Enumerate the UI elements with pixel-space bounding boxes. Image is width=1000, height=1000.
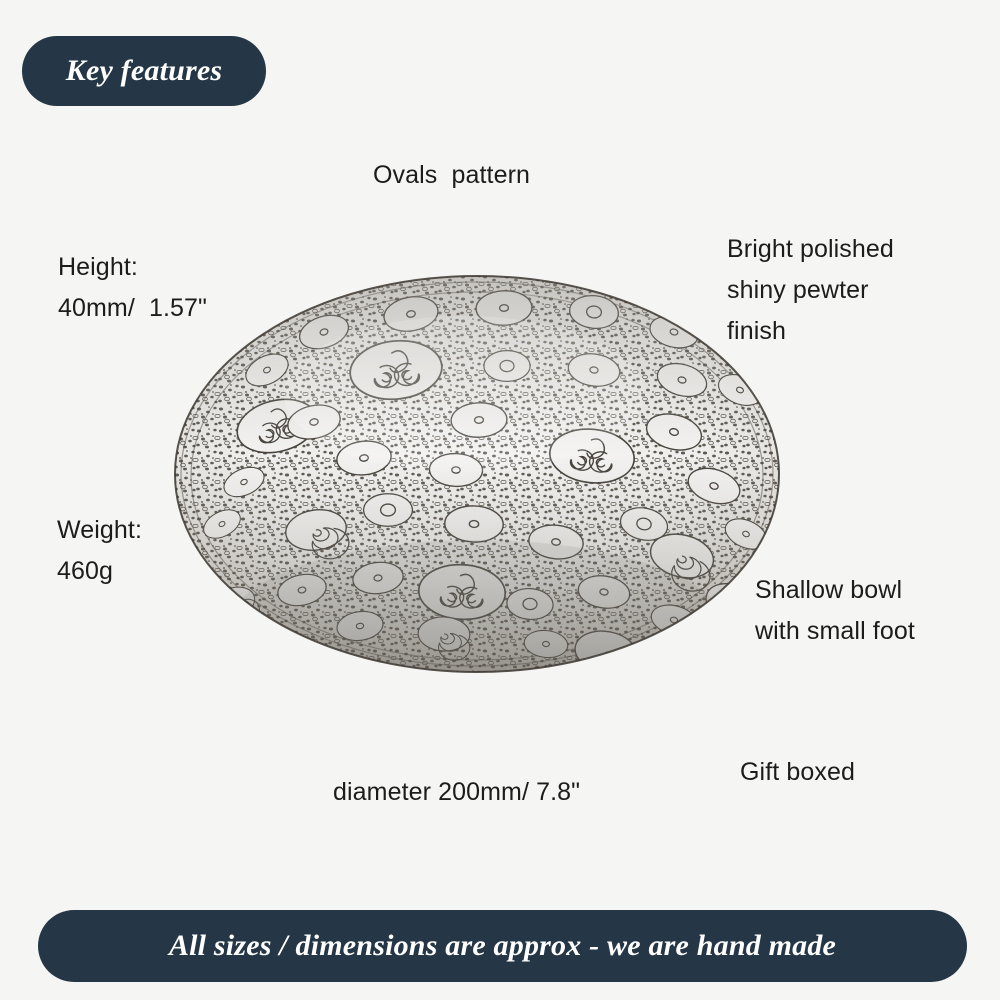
key-features-badge: Key features [22, 36, 266, 106]
disclaimer-banner: All sizes / dimensions are approx - we a… [38, 910, 967, 982]
feature-label-shallow-bowl: Shallow bowl with small foot [755, 570, 915, 652]
product-bowl-image [174, 274, 780, 674]
feature-label-weight: Weight: 460g [57, 510, 142, 592]
disclaimer-banner-label: All sizes / dimensions are approx - we a… [169, 929, 836, 963]
feature-label-gift-boxed: Gift boxed [740, 752, 855, 793]
bowl-illustration [174, 274, 780, 674]
feature-label-height: Height: 40mm/ 1.57" [58, 247, 207, 329]
feature-label-finish: Bright polished shiny pewter finish [727, 229, 894, 352]
product-feature-infographic: Key features [0, 0, 1000, 1000]
feature-label-pattern: Ovals pattern [373, 155, 530, 196]
feature-label-diameter: diameter 200mm/ 7.8" [333, 772, 580, 813]
key-features-badge-label: Key features [66, 54, 223, 88]
